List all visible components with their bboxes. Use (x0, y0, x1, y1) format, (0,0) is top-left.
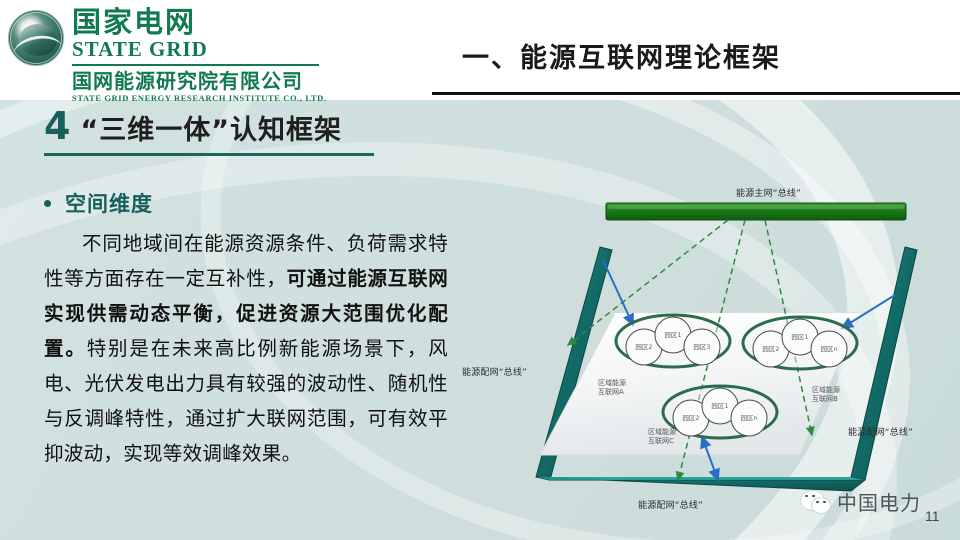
main-energy-bus-bar (606, 203, 906, 220)
brand-divider (72, 64, 319, 66)
region-a-label: 区域能源 互联网A (598, 379, 626, 397)
watermark-text: 中国电力 (837, 487, 921, 516)
region-cluster-a: 园区2 园区1 园区3 (616, 315, 730, 367)
bullet-label: 空间维度 (65, 188, 153, 218)
dist-bus-bottom-label: 能源配网“总线” (638, 498, 703, 511)
brand-block: 国家电网 STATE GRID 国网能源研究院有限公司 STATE GRID E… (72, 6, 402, 104)
region-c-label-line1: 区域能源 (648, 428, 676, 436)
institute-name-cn: 国网能源研究院有限公司 (72, 70, 402, 93)
slide-header: 国家电网 STATE GRID 国网能源研究院有限公司 STATE GRID E… (0, 0, 960, 100)
bullet-item-spatial-dimension: 空间维度 (44, 188, 448, 218)
park-label-c3: 园区n (740, 414, 757, 422)
park-label-c2: 园区2 (682, 414, 699, 422)
state-grid-emblem-ring-icon (8, 10, 64, 66)
park-label-c1: 园区1 (711, 402, 728, 410)
title-underline (432, 92, 960, 95)
dist-bus-right-label: 能源配网“总线” (848, 425, 913, 438)
region-b-label-line2: 互联网B (812, 395, 838, 403)
park-label-a2: 园区2 (635, 343, 652, 351)
main-bus-label: 能源主网“总线” (736, 186, 801, 199)
brand-name-cn: 国家电网 (72, 6, 402, 38)
paragraph-part-2: 特别是在未来高比例新能源场景下，风电、光伏发电出力具有较强的波动性、随机性与反调… (44, 337, 448, 465)
body-paragraph: 不同地域间在能源资源条件、负荷需求特性等方面存在一定互补性，可通过能源互联网实现… (44, 226, 448, 471)
institute-name-en: STATE GRID ENERGY RESEARCH INSTITUTE CO.… (72, 93, 402, 104)
region-cluster-c: 园区2 园区1 园区n (663, 386, 777, 438)
region-b-label-line1: 区域能源 (812, 386, 840, 394)
park-label-a3: 园区3 (693, 343, 710, 351)
region-cluster-b: 园区2 园区1 园区n (743, 317, 857, 369)
slide: 国家电网 STATE GRID 国网能源研究院有限公司 STATE GRID E… (0, 0, 960, 540)
region-c-label: 区域能源 互联网C (648, 428, 676, 446)
page-title: 一、能源互联网理论框架 (462, 36, 781, 75)
park-label-a1: 园区1 (664, 331, 681, 339)
diagram-svg: 园区2 园区1 园区3 园区2 园区1 园区n 园区2 (440, 150, 960, 540)
section-title: “三维一体”认知框架 (80, 111, 342, 151)
dist-bus-left-label: 能源配网“总线” (462, 365, 527, 378)
park-label-b2: 园区2 (762, 345, 779, 353)
park-label-b3: 园区n (820, 345, 837, 353)
text-column: 空间维度 不同地域间在能源资源条件、负荷需求特性等方面存在一定互补性，可通过能源… (44, 188, 448, 471)
section-underline (44, 153, 374, 156)
section-heading: 4 “三维一体”认知框架 (44, 106, 374, 156)
brand-name-en: STATE GRID (72, 38, 402, 61)
region-c-label-line2: 互联网C (648, 437, 674, 445)
region-a-label-line2: 互联网A (598, 388, 624, 396)
page-number: 11 (925, 508, 940, 524)
park-label-b1: 园区1 (791, 333, 808, 341)
bullet-dot-icon (44, 200, 51, 207)
watermark: 中国电力 (800, 487, 921, 516)
region-b-label: 区域能源 互联网B (812, 386, 840, 404)
wechat-icon (800, 490, 830, 514)
region-a-label-line1: 区域能源 (598, 379, 626, 387)
section-number: 4 (44, 106, 70, 146)
energy-internet-diagram: 园区2 园区1 园区3 园区2 园区1 园区n 园区2 (440, 150, 960, 540)
